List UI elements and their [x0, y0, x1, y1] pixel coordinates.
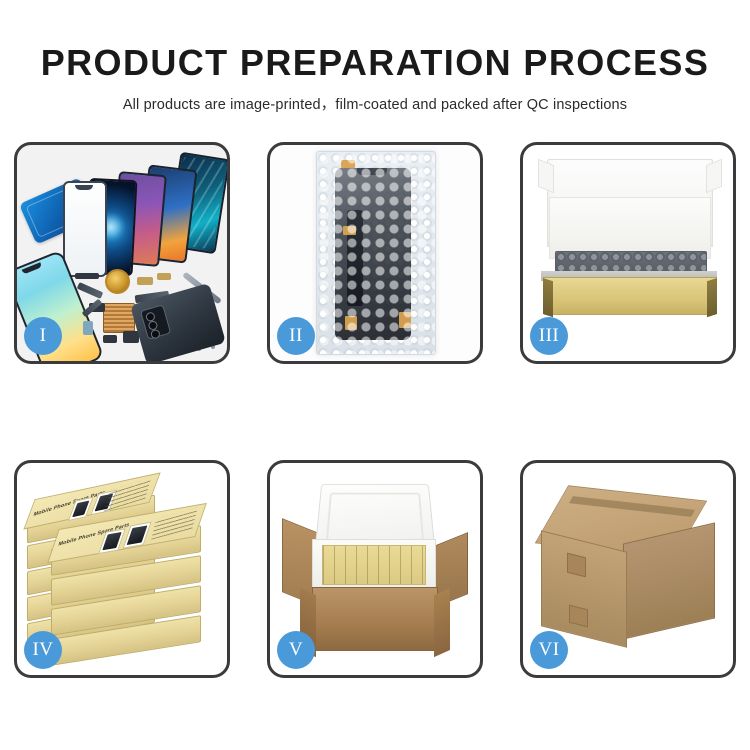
step-badge-5: V: [277, 631, 315, 669]
camera-module-icon: [140, 304, 171, 339]
yellow-boxes-inside: [322, 545, 426, 585]
small-part: [123, 331, 139, 343]
box-front-panel: [543, 277, 717, 315]
step-badge-6: VI: [530, 631, 568, 669]
product-preparation-infographic: PRODUCT PREPARATION PROCESS All products…: [0, 0, 750, 750]
tape-strip: [399, 312, 411, 328]
gold-grid-chip: [103, 303, 135, 333]
box-spec-lines: [151, 508, 197, 540]
carton-front-face: [541, 530, 627, 647]
step-badge-1: I: [24, 317, 62, 355]
shipping-carton-open: [312, 587, 438, 651]
process-step-6: VI: [520, 460, 736, 678]
process-step-2: II: [267, 142, 483, 364]
process-step-1: I: [14, 142, 230, 364]
bubble-wrap-bag: [316, 151, 436, 355]
header: PRODUCT PREPARATION PROCESS All products…: [0, 0, 750, 114]
page-title: PRODUCT PREPARATION PROCESS: [0, 44, 750, 82]
page-subtitle: All products are image-printed，film-coat…: [0, 93, 750, 114]
tape-strip: [341, 160, 355, 168]
foam-insert: [549, 197, 711, 259]
process-step-5: V: [267, 460, 483, 678]
flex-cable: [77, 282, 104, 299]
process-step-3: III: [520, 142, 736, 364]
copper-coil-part: [105, 269, 130, 294]
assembly-flex-cable: [347, 210, 363, 306]
tape-strip: [343, 226, 356, 235]
small-part: [137, 277, 153, 285]
small-part: [83, 321, 93, 335]
step-badge-3: III: [530, 317, 568, 355]
small-part: [75, 273, 99, 279]
screen-protector: [63, 181, 107, 277]
tape-strip: [345, 316, 357, 330]
carton-side-face: [623, 522, 715, 639]
process-step-4: Mobile Phone Spare Parts Mobile Phone Sp…: [14, 460, 230, 678]
small-part: [157, 273, 171, 280]
step-badge-2: II: [277, 317, 315, 355]
small-part: [103, 335, 117, 343]
process-step-grid: I II: [14, 142, 736, 678]
step-badge-4: IV: [24, 631, 62, 669]
